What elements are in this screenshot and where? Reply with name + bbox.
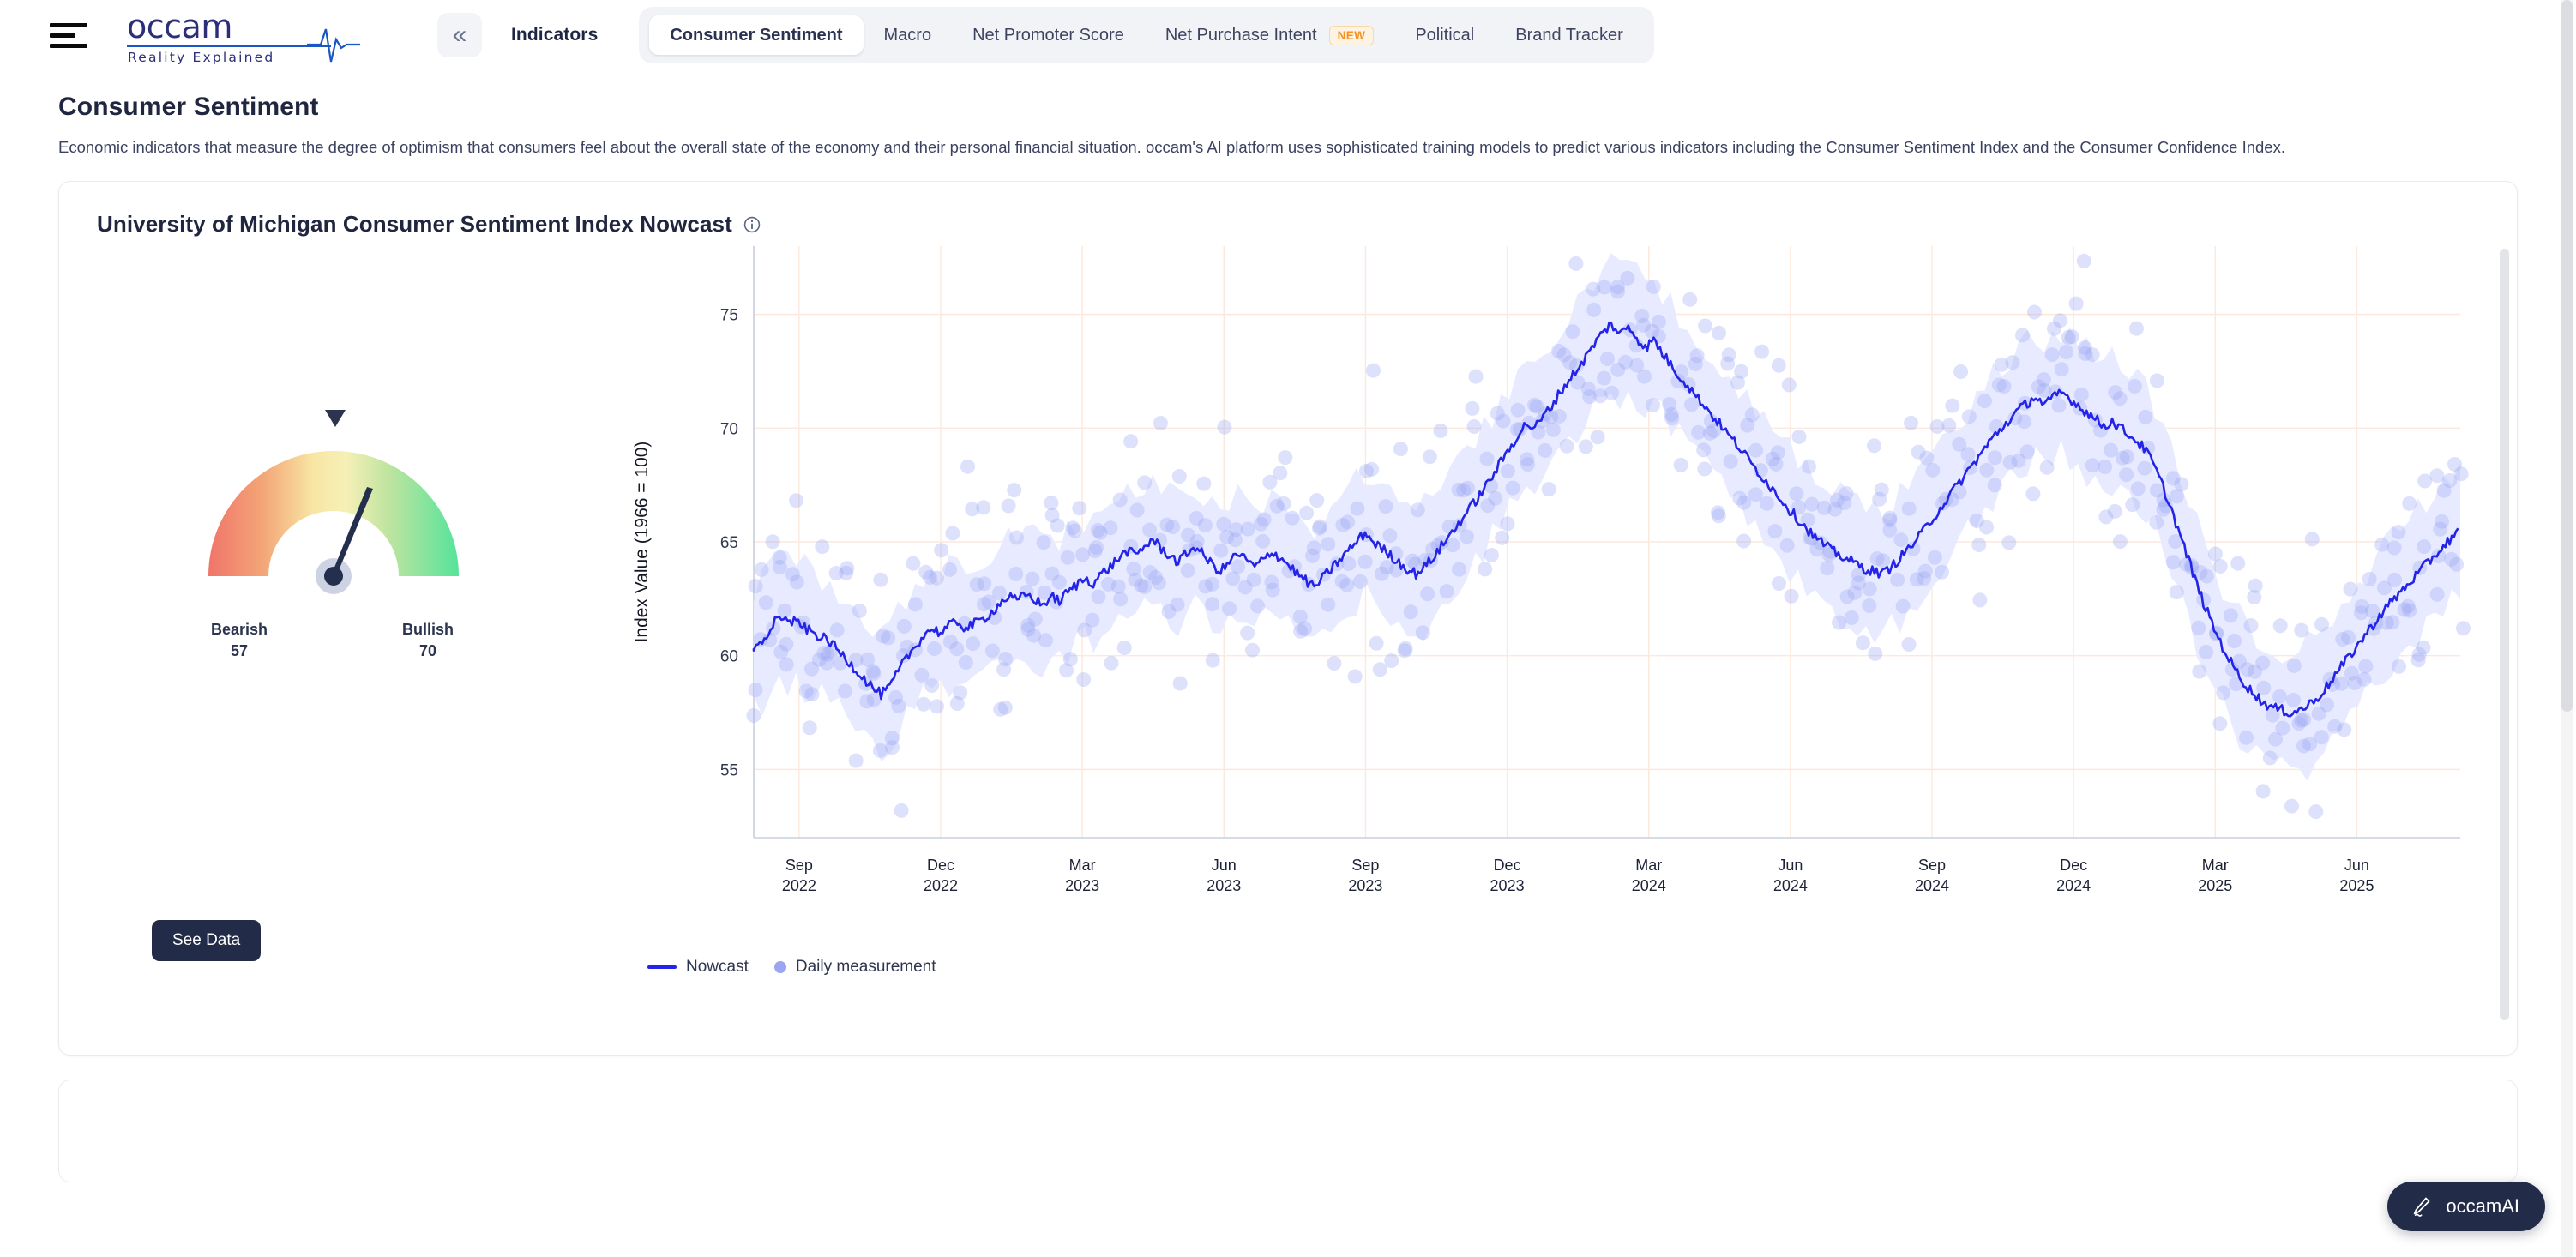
scatter-point xyxy=(1181,563,1195,578)
scatter-point xyxy=(1254,517,1268,532)
occam-logo[interactable]: occam Reality Explained xyxy=(125,10,357,60)
scatter-point xyxy=(1652,315,1666,329)
scatter-point xyxy=(1241,522,1255,537)
scatter-point xyxy=(1076,672,1091,687)
scatter-point xyxy=(1113,493,1128,508)
scatter-point xyxy=(1953,364,1968,379)
scatter-point xyxy=(755,562,769,577)
scatter-point xyxy=(2275,721,2290,736)
x-tick-label-year: 2022 xyxy=(782,877,816,894)
scatter-point xyxy=(2119,468,2134,483)
tab-label: Macro xyxy=(884,26,932,45)
secondary-chart-card xyxy=(58,1080,2518,1182)
scatter-point xyxy=(2263,751,2278,766)
gauge-svg xyxy=(188,405,479,610)
scatter-point xyxy=(2149,515,2164,530)
scatter-point xyxy=(1546,423,1561,437)
scatter-point xyxy=(1460,481,1475,496)
scatter-point xyxy=(2244,618,2259,633)
scatter-point xyxy=(930,700,944,714)
scatter-point xyxy=(1882,514,1897,528)
scatter-point xyxy=(749,580,763,594)
tab-brand-tracker[interactable]: Brand Tracker xyxy=(1495,15,1644,55)
scatter-point xyxy=(773,560,787,574)
scatter-point xyxy=(894,803,909,818)
scatter-point xyxy=(1945,399,1959,413)
scatter-point xyxy=(1698,319,1712,334)
scatter-point xyxy=(1935,565,1949,580)
scatter-point xyxy=(2166,556,2181,570)
scatter-point xyxy=(2294,623,2308,638)
scatter-point xyxy=(1674,458,1688,472)
scatter-point xyxy=(1297,622,1312,636)
scatter-point xyxy=(2341,630,2356,645)
scatter-point xyxy=(1961,448,1976,462)
scatter-point xyxy=(945,526,960,541)
scatter-point xyxy=(1988,478,2002,493)
scatter-point xyxy=(2387,573,2402,587)
x-tick-label-year: 2022 xyxy=(924,877,958,894)
scatter-point xyxy=(1863,582,1877,597)
scatter-point xyxy=(2053,314,2067,328)
scatter-point xyxy=(985,644,1000,659)
x-tick-label-year: 2025 xyxy=(2339,877,2374,894)
chevron-double-left-icon[interactable]: « xyxy=(437,13,482,57)
scatter-point xyxy=(1711,506,1725,520)
scatter-point xyxy=(1782,378,1797,393)
scatter-point xyxy=(1690,349,1705,364)
scatter-point xyxy=(1270,499,1285,514)
y-tick-label: 65 xyxy=(720,534,738,552)
scatter-point xyxy=(2113,535,2128,550)
tab-macro[interactable]: Macro xyxy=(864,15,953,55)
scatter-point xyxy=(2296,713,2311,727)
scatter-point xyxy=(2284,799,2299,814)
scatter-point xyxy=(1832,616,1846,630)
scatter-point xyxy=(1552,409,1567,424)
scatter-point xyxy=(1591,430,1605,445)
scatter-point xyxy=(746,708,761,723)
scatter-point xyxy=(779,637,793,652)
nowcast-chart[interactable]: 5560657075Sep2022Dec2022Mar2023Jun2023Se… xyxy=(608,238,2518,992)
page-scrollbar[interactable] xyxy=(2561,0,2573,1257)
scatter-point xyxy=(1038,634,1053,648)
scatter-point xyxy=(2227,634,2242,648)
scatter-point xyxy=(1682,292,1697,307)
scatter-point xyxy=(2213,559,2228,574)
scatter-point xyxy=(1316,568,1331,582)
scatter-point xyxy=(1044,496,1058,511)
scatter-point xyxy=(1979,463,1994,478)
scatter-point xyxy=(1061,550,1075,565)
scatter-point xyxy=(1222,602,1237,616)
chart-legend: Nowcast Daily measurement xyxy=(647,958,936,977)
tab-label: Net Purchase Intent xyxy=(1165,26,1317,45)
scatter-point xyxy=(789,494,803,508)
scatter-point xyxy=(2456,622,2471,636)
pulse-line-icon xyxy=(307,24,367,69)
plot-pane: 5560657075Sep2022Dec2022Mar2023Jun2023Se… xyxy=(608,238,2518,992)
scatter-point xyxy=(2199,645,2213,659)
scatter-point xyxy=(2128,379,2142,394)
scatter-point xyxy=(2125,498,2140,513)
scatter-point xyxy=(2435,514,2449,529)
scatter-point xyxy=(906,556,920,571)
scatter-point xyxy=(1028,612,1043,627)
scatter-point xyxy=(2402,604,2417,618)
x-tick-label-year: 2025 xyxy=(2198,877,2232,894)
scatter-point xyxy=(1159,518,1174,532)
scatter-point xyxy=(1313,520,1327,534)
scatter-point xyxy=(2027,305,2042,320)
scatter-point xyxy=(1928,550,1942,565)
scatter-point xyxy=(1123,435,1138,449)
hamburger-line xyxy=(50,23,87,27)
y-tick-label: 60 xyxy=(720,648,738,666)
scatter-point xyxy=(2416,641,2430,655)
scatter-point xyxy=(1434,424,1448,438)
scatter-point xyxy=(1384,653,1399,668)
scatter-point xyxy=(1285,511,1300,526)
scatter-point xyxy=(2170,586,2184,600)
scatter-point xyxy=(1902,637,1917,652)
scatter-point xyxy=(866,665,881,679)
scatter-point xyxy=(1845,610,1859,625)
card-title-row: University of Michigan Consumer Sentimen… xyxy=(59,182,2517,238)
scatter-point xyxy=(852,604,867,618)
scatter-point xyxy=(1240,626,1255,641)
hamburger-line xyxy=(50,33,75,38)
scatter-point xyxy=(1872,492,1887,507)
scatter-point xyxy=(2212,717,2227,731)
scatter-point xyxy=(2247,590,2261,604)
scatter-point xyxy=(766,535,780,550)
y-tick-label: 55 xyxy=(720,762,738,780)
scatter-point xyxy=(1266,583,1280,598)
scatter-point xyxy=(1745,408,1760,423)
scatter-point xyxy=(1113,592,1128,607)
scatter-point xyxy=(2239,731,2254,745)
scatter-point xyxy=(1772,576,1786,591)
scatter-point xyxy=(2191,621,2206,635)
tab-political[interactable]: Political xyxy=(1394,15,1495,55)
scatter-point xyxy=(1767,525,1782,539)
page-title: Consumer Sentiment xyxy=(58,93,2518,122)
scatter-point xyxy=(1565,325,1580,340)
card-title: University of Michigan Consumer Sentimen… xyxy=(97,211,732,238)
gauge-bearish-value: 57 xyxy=(188,641,291,661)
card-scrollbar[interactable] xyxy=(2500,249,2509,1020)
scatter-point xyxy=(1496,414,1511,429)
scatter-point xyxy=(1075,548,1090,562)
scatter-point xyxy=(1411,503,1425,518)
scatter-point xyxy=(1724,454,1738,469)
scatter-point xyxy=(1339,578,1354,592)
scatter-point xyxy=(2052,399,2067,413)
section-label: Indicators xyxy=(511,25,598,45)
scatter-point xyxy=(1820,562,1834,576)
scatter-point xyxy=(838,684,852,699)
scatter-point xyxy=(1348,670,1363,684)
scatter-point xyxy=(2074,388,2089,402)
scatter-point xyxy=(1754,345,1769,359)
scatter-point xyxy=(2077,254,2091,268)
tab-label: Consumer Sentiment xyxy=(670,26,842,45)
indicator-tabs: Consumer Sentiment Macro Net Promoter Sc… xyxy=(639,7,1653,63)
scatter-point xyxy=(998,653,1013,667)
scatter-point xyxy=(1646,398,1660,412)
scatter-point xyxy=(759,596,773,610)
logo-underline xyxy=(127,45,331,47)
scatter-point xyxy=(930,571,944,586)
scatter-point xyxy=(953,686,967,701)
scatter-point xyxy=(1637,370,1652,384)
scatter-point xyxy=(1002,499,1016,514)
scatter-point xyxy=(2314,731,2329,745)
gauge-arc xyxy=(208,451,459,576)
scatter-point xyxy=(1309,494,1324,508)
scatter-point xyxy=(1988,451,2002,466)
x-tick-label: Mar xyxy=(1069,857,1096,874)
tab-label: Brand Tracker xyxy=(1515,26,1623,45)
scatter-point xyxy=(1469,370,1484,384)
scatter-point xyxy=(1255,534,1270,549)
scatter-point xyxy=(1542,483,1556,497)
scatter-point xyxy=(1404,605,1418,620)
scatter-point xyxy=(2256,681,2271,695)
scatter-point xyxy=(2129,322,2144,336)
scatter-point xyxy=(1379,500,1393,514)
scatter-point xyxy=(1804,497,1819,512)
scatter-point xyxy=(2017,415,2031,430)
scatter-point xyxy=(2045,348,2060,363)
scatter-point xyxy=(1173,677,1188,691)
scatter-point xyxy=(1662,397,1676,412)
scatter-point xyxy=(1918,564,1933,579)
scatter-point xyxy=(881,631,895,646)
gauge-labels: Bearish 57 Bullish 70 xyxy=(188,619,479,661)
x-tick-label-year: 2024 xyxy=(2056,877,2091,894)
scatter-point xyxy=(1748,443,1763,458)
legend-daily-measurement[interactable]: Daily measurement xyxy=(774,958,936,977)
scatter-point xyxy=(2417,540,2431,555)
scatter-point xyxy=(1231,560,1245,574)
scatter-point xyxy=(1941,418,1956,433)
scatter-point xyxy=(2314,617,2329,632)
scatter-point xyxy=(1341,556,1356,571)
legend-nowcast-label: Nowcast xyxy=(686,958,749,977)
scatter-point xyxy=(1862,598,1876,613)
scatter-point xyxy=(2069,297,2084,311)
scatter-point xyxy=(1621,271,1635,286)
scatter-point xyxy=(1025,572,1039,586)
scatter-point xyxy=(1997,379,2012,394)
scatter-point xyxy=(2454,467,2469,482)
gauge-bullish-label: Bullish xyxy=(376,619,479,640)
scatter-point xyxy=(1104,521,1118,536)
scatter-point xyxy=(1009,531,1024,545)
scatter-point xyxy=(1520,458,1535,472)
scatter-point xyxy=(2337,723,2351,737)
scatter-point xyxy=(867,693,882,707)
x-tick-label-year: 2023 xyxy=(1348,877,1382,894)
scatter-point xyxy=(1511,403,1526,418)
scatter-point xyxy=(1393,442,1408,457)
scatter-point xyxy=(1604,386,1619,400)
scatter-point xyxy=(2108,504,2122,519)
scatter-point xyxy=(1480,452,1495,466)
scatter-point xyxy=(1373,663,1387,677)
scatter-point xyxy=(1358,555,1373,569)
scatter-point xyxy=(917,697,931,712)
scatter-point xyxy=(1278,451,1292,466)
scatter-point xyxy=(960,460,975,474)
hamburger-menu-icon[interactable] xyxy=(50,21,87,50)
tab-consumer-sentiment[interactable]: Consumer Sentiment xyxy=(649,15,863,55)
scatter-point xyxy=(2392,659,2406,674)
scatter-point xyxy=(1245,643,1260,658)
scatter-point xyxy=(927,641,942,656)
scatter-point xyxy=(1153,416,1168,430)
scatter-point xyxy=(1586,303,1601,317)
scatter-point xyxy=(2387,541,2402,556)
scatter-point xyxy=(1007,484,1021,498)
legend-dot-swatch xyxy=(774,961,786,973)
legend-daily-label: Daily measurement xyxy=(796,958,936,977)
scatter-point xyxy=(976,501,990,515)
scatter-point xyxy=(1720,357,1735,371)
x-tick-label: Sep xyxy=(785,857,813,874)
scatter-point xyxy=(1890,573,1905,587)
x-tick-label: Dec xyxy=(1494,857,1521,874)
gauge-target-marker xyxy=(325,410,346,427)
scatter-point xyxy=(1597,371,1611,386)
new-badge: NEW xyxy=(1329,26,1375,45)
scatter-point xyxy=(1652,329,1666,344)
scatter-point xyxy=(2113,392,2128,406)
scatter-point xyxy=(1736,534,1751,549)
scatter-point xyxy=(2098,460,2112,474)
scatter-point xyxy=(2272,689,2287,704)
scatter-point xyxy=(1904,416,1918,430)
scatter-point xyxy=(897,619,912,634)
x-tick-label: Mar xyxy=(2202,857,2229,874)
scatter-point xyxy=(2344,582,2358,597)
scatter-point xyxy=(1399,641,1413,656)
hamburger-line xyxy=(50,44,87,48)
page-scrollbar-thumb[interactable] xyxy=(2561,0,2573,712)
x-tick-label: Dec xyxy=(927,857,954,874)
scatter-point xyxy=(2320,698,2334,713)
scatter-point xyxy=(1440,585,1454,599)
x-tick-label: Mar xyxy=(1635,857,1662,874)
scatter-point xyxy=(1327,656,1341,671)
scatter-point xyxy=(2208,547,2223,562)
scatter-point xyxy=(1134,579,1148,593)
scatter-point xyxy=(749,683,763,698)
tab-net-purchase-intent[interactable]: Net Purchase Intent NEW xyxy=(1145,15,1394,55)
scatter-point xyxy=(1353,574,1368,589)
scatter-point xyxy=(1579,440,1593,454)
scatter-point xyxy=(1868,647,1882,661)
scatter-point xyxy=(1299,506,1314,520)
scatter-point xyxy=(2150,374,2164,388)
scatter-point xyxy=(1088,544,1103,559)
gauge-bearish-label: Bearish xyxy=(188,619,291,640)
scatter-point xyxy=(1696,443,1711,458)
x-tick-label: Jun xyxy=(2344,857,2369,874)
sentiment-gauge xyxy=(188,405,479,610)
scatter-point xyxy=(1340,515,1355,530)
scatter-point xyxy=(885,731,900,746)
legend-nowcast[interactable]: Nowcast xyxy=(647,958,749,977)
gauge-bearish: Bearish 57 xyxy=(188,619,291,661)
scatter-point xyxy=(1117,641,1132,655)
scatter-point xyxy=(1307,541,1321,556)
scatter-point xyxy=(1538,443,1552,458)
scatter-point xyxy=(2192,665,2206,679)
scatter-point xyxy=(840,562,854,576)
scatter-point xyxy=(1971,538,1986,552)
tab-label: Political xyxy=(1415,26,1474,45)
scatter-point xyxy=(2374,538,2389,552)
scatter-point xyxy=(1190,534,1205,549)
occam-ai-label: occamAI xyxy=(2446,1195,2519,1218)
scatter-point xyxy=(2286,693,2301,707)
scatter-point xyxy=(2305,532,2320,547)
scatter-point xyxy=(1152,576,1166,591)
scatter-point xyxy=(815,540,829,555)
scatter-point xyxy=(1802,460,1816,474)
scatter-point xyxy=(949,642,964,657)
occam-ai-button[interactable]: occamAI xyxy=(2387,1182,2545,1231)
scatter-point xyxy=(1478,562,1492,577)
scatter-point xyxy=(1072,502,1086,516)
scatter-point xyxy=(1198,519,1213,533)
scatter-point xyxy=(2170,490,2184,504)
x-tick-label-year: 2023 xyxy=(1207,877,1241,894)
scatter-point xyxy=(1760,496,1774,511)
scatter-point xyxy=(1772,358,1786,373)
scatter-point xyxy=(1206,653,1220,668)
scatter-point xyxy=(1205,598,1219,612)
scatter-point xyxy=(1213,544,1228,558)
scatter-point xyxy=(2256,785,2271,799)
x-tick-label: Dec xyxy=(2060,857,2087,874)
scatter-point xyxy=(1068,524,1082,538)
scatter-point xyxy=(1789,487,1803,502)
chart-card: University of Michigan Consumer Sentimen… xyxy=(58,181,2518,1056)
gauge-hub-center xyxy=(324,567,343,586)
see-data-button[interactable]: See Data xyxy=(152,920,261,961)
scatter-point xyxy=(2059,345,2073,359)
scatter-point xyxy=(2255,656,2270,671)
scatter-point xyxy=(1467,419,1482,434)
scatter-point xyxy=(2120,450,2134,465)
scatter-point xyxy=(1389,563,1404,578)
scatter-point xyxy=(1250,599,1265,614)
info-circle-icon[interactable] xyxy=(743,215,761,234)
scatter-point xyxy=(2449,557,2464,572)
scatter-point xyxy=(1137,476,1152,490)
scatter-point xyxy=(1196,477,1211,491)
scatter-point xyxy=(1142,523,1157,538)
tab-net-promoter-score[interactable]: Net Promoter Score xyxy=(952,15,1145,55)
scatter-point xyxy=(1217,420,1231,435)
scatter-point xyxy=(790,575,804,590)
scatter-point xyxy=(1646,280,1661,294)
scatter-point xyxy=(934,544,948,558)
